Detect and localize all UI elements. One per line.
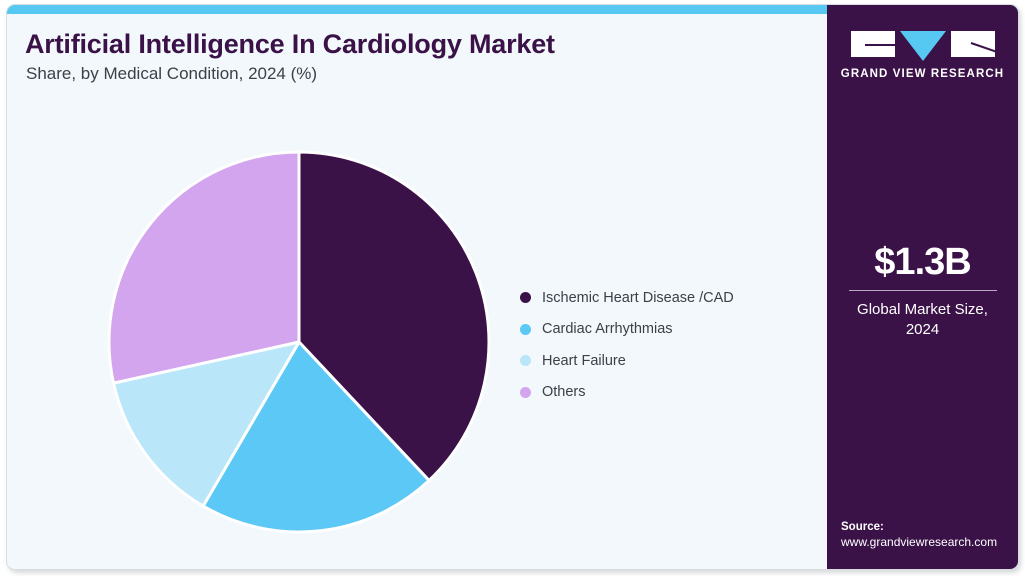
logo-marks: [827, 31, 1018, 59]
legend-label: Others: [542, 384, 586, 400]
legend-item-cardiac-arrhythmias[interactable]: Cardiac Arrhythmias: [520, 314, 810, 346]
source-block: Source: www.grandviewresearch.com: [841, 521, 1019, 549]
chart-pane: Artificial Intelligence In Cardiology Ma…: [7, 14, 823, 570]
legend-item-others[interactable]: Others: [520, 377, 810, 409]
brand-name: GRAND VIEW RESEARCH: [827, 68, 1018, 80]
source-url[interactable]: www.grandviewresearch.com: [841, 535, 1019, 549]
market-size-value: $1.3B: [827, 243, 1018, 282]
brand-sidebar: GRAND VIEW RESEARCH $1.3B Global Market …: [827, 5, 1018, 570]
stat-divider: [849, 290, 997, 291]
gvr-letter-g-icon: [851, 31, 895, 57]
chart-legend: Ischemic Heart Disease /CAD Cardiac Arrh…: [520, 282, 810, 408]
legend-swatch-icon: [520, 292, 531, 303]
page-subtitle: Share, by Medical Condition, 2024 (%): [26, 64, 317, 84]
infographic-canvas: Artificial Intelligence In Cardiology Ma…: [0, 0, 1025, 576]
pie-chart-svg: [102, 142, 502, 542]
legend-item-ischemic-heart-disease[interactable]: Ischemic Heart Disease /CAD: [520, 282, 810, 314]
legend-label: Ischemic Heart Disease /CAD: [542, 290, 734, 306]
market-size-stat: $1.3B Global Market Size, 2024: [827, 243, 1018, 340]
source-heading: Source:: [841, 521, 1019, 533]
legend-item-heart-failure[interactable]: Heart Failure: [520, 345, 810, 377]
gvr-letter-r-icon: [951, 31, 995, 57]
legend-label: Cardiac Arrhythmias: [542, 321, 673, 337]
legend-swatch-icon: [520, 324, 531, 335]
pie-slice-group: [109, 152, 489, 532]
gvr-triangle-v-icon: [900, 31, 946, 61]
legend-label: Heart Failure: [542, 353, 626, 369]
brand-logo[interactable]: GRAND VIEW RESEARCH: [827, 31, 1018, 80]
page-title: Artificial Intelligence In Cardiology Ma…: [25, 29, 555, 60]
legend-swatch-icon: [520, 355, 531, 366]
legend-swatch-icon: [520, 387, 531, 398]
market-size-label: Global Market Size, 2024: [827, 300, 1018, 341]
pie-slice[interactable]: [109, 152, 299, 383]
infographic-card: Artificial Intelligence In Cardiology Ma…: [6, 4, 1019, 570]
pie-chart: [102, 142, 502, 542]
